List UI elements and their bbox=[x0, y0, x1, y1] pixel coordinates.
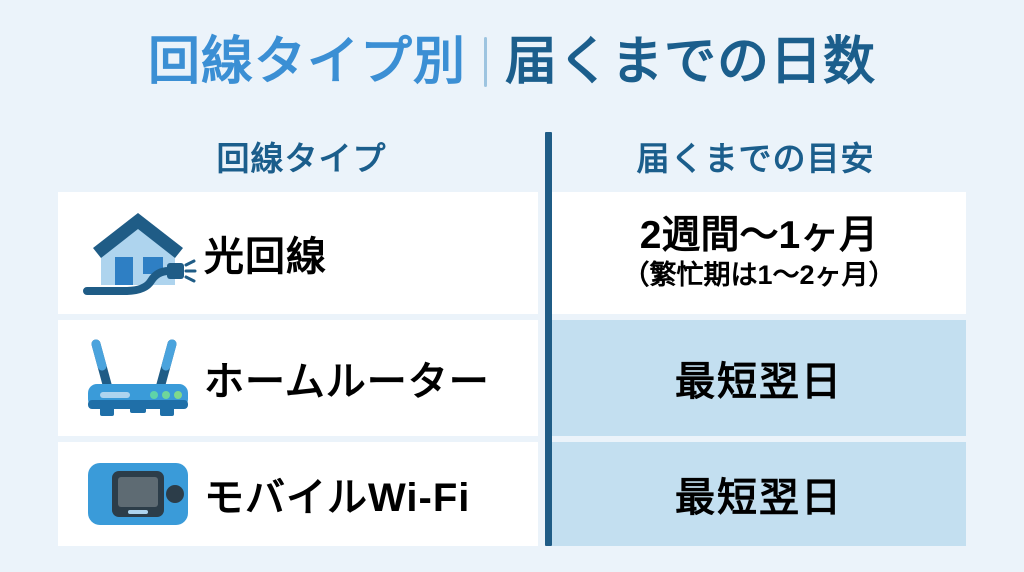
estimate-note: （繁忙期は1〜2ヶ月） bbox=[622, 260, 895, 291]
row-type-cell: ホームルーター bbox=[58, 320, 538, 436]
estimate-primary: 2週間〜1ヶ月 bbox=[640, 215, 878, 258]
comparison-table: 回線タイプ 届くまでの目安 bbox=[58, 126, 966, 546]
page-title: 回線タイプ別 届くまでの日数 bbox=[0, 26, 1024, 98]
row-label: モバイルWi-Fi bbox=[204, 465, 470, 523]
title-separator bbox=[484, 37, 487, 87]
estimate-primary: 最短翌日 bbox=[675, 349, 843, 407]
mobile-wifi-icon bbox=[72, 442, 204, 546]
table-row: 光回線 2週間〜1ヶ月 （繁忙期は1〜2ヶ月） bbox=[58, 192, 966, 314]
estimate-primary: 最短翌日 bbox=[675, 465, 843, 523]
row-label: 光回線 bbox=[204, 224, 327, 282]
row-type-cell: 光回線 bbox=[58, 192, 538, 314]
table-row: モバイルWi-Fi 最短翌日 bbox=[58, 442, 966, 546]
home-router-icon bbox=[72, 320, 204, 436]
table-header-row: 回線タイプ 届くまでの目安 bbox=[58, 126, 966, 186]
row-type-cell: モバイルWi-Fi bbox=[58, 442, 538, 546]
row-estimate-cell: 最短翌日 bbox=[552, 442, 966, 546]
header-estimate-column: 届くまでの目安 bbox=[545, 126, 966, 186]
page-title-left: 回線タイプ別 bbox=[148, 36, 466, 88]
table-row: ホームルーター 最短翌日 bbox=[58, 320, 966, 436]
fiber-house-icon bbox=[72, 192, 204, 314]
page-title-right: 届くまでの日数 bbox=[505, 36, 876, 88]
row-estimate-cell: 2週間〜1ヶ月 （繁忙期は1〜2ヶ月） bbox=[552, 192, 966, 314]
row-label: ホームルーター bbox=[204, 349, 490, 407]
header-type-column: 回線タイプ bbox=[58, 126, 545, 186]
row-estimate-cell: 最短翌日 bbox=[552, 320, 966, 436]
